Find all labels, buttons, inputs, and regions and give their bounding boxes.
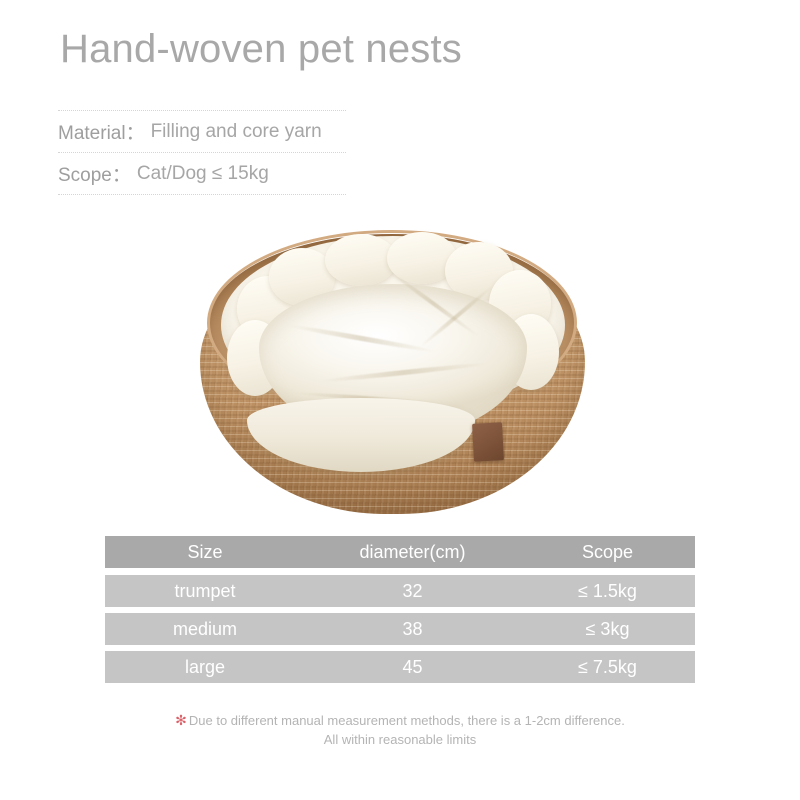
table-cell-diameter: 32 <box>305 581 520 602</box>
spec-divider-bottom <box>58 194 346 195</box>
table-header-scope: Scope <box>520 542 695 563</box>
spec-value-scope: Cat/Dog ≤ 15kg <box>137 163 269 185</box>
table-row: large 45 ≤ 7.5kg <box>105 651 695 683</box>
table-cell-diameter: 45 <box>305 657 520 678</box>
table-header-diameter: diameter(cm) <box>305 542 520 563</box>
table-cell-size: trumpet <box>105 581 305 602</box>
table-row: trumpet 32 ≤ 1.5kg <box>105 575 695 607</box>
footnote: ✻Due to different manual measurement met… <box>0 711 800 749</box>
leather-brand-tag <box>472 422 504 462</box>
page-title: Hand-woven pet nests <box>60 27 462 72</box>
spec-label-material: Material： <box>58 118 145 145</box>
spec-label-scope: Scope： <box>58 160 131 187</box>
table-cell-diameter: 38 <box>305 619 520 640</box>
footnote-line-1: Due to different manual measurement meth… <box>189 713 625 728</box>
table-cell-scope: ≤ 3kg <box>520 619 695 640</box>
spec-value-material: Filling and core yarn <box>151 121 322 143</box>
product-image-stage <box>185 222 600 522</box>
table-cell-scope: ≤ 7.5kg <box>520 657 695 678</box>
table-cell-size: large <box>105 657 305 678</box>
cushion-crease <box>319 361 489 384</box>
footnote-line-2: All within reasonable limits <box>0 730 800 749</box>
table-cell-size: medium <box>105 619 305 640</box>
spec-row-scope: Scope： Cat/Dog ≤ 15kg <box>58 153 346 194</box>
spec-row-material: Material： Filling and core yarn <box>58 111 346 152</box>
table-row: medium 38 ≤ 3kg <box>105 613 695 645</box>
cushion-crease <box>288 323 437 354</box>
table-header-size: Size <box>105 542 305 563</box>
table-cell-scope: ≤ 1.5kg <box>520 581 695 602</box>
cushion-crease <box>419 284 495 349</box>
asterisk-icon: ✻ <box>175 712 187 728</box>
size-table: Size diameter(cm) Scope trumpet 32 ≤ 1.5… <box>105 536 695 689</box>
spec-list: Material： Filling and core yarn Scope： C… <box>58 110 346 195</box>
table-header-row: Size diameter(cm) Scope <box>105 536 695 568</box>
product-image <box>185 222 600 522</box>
